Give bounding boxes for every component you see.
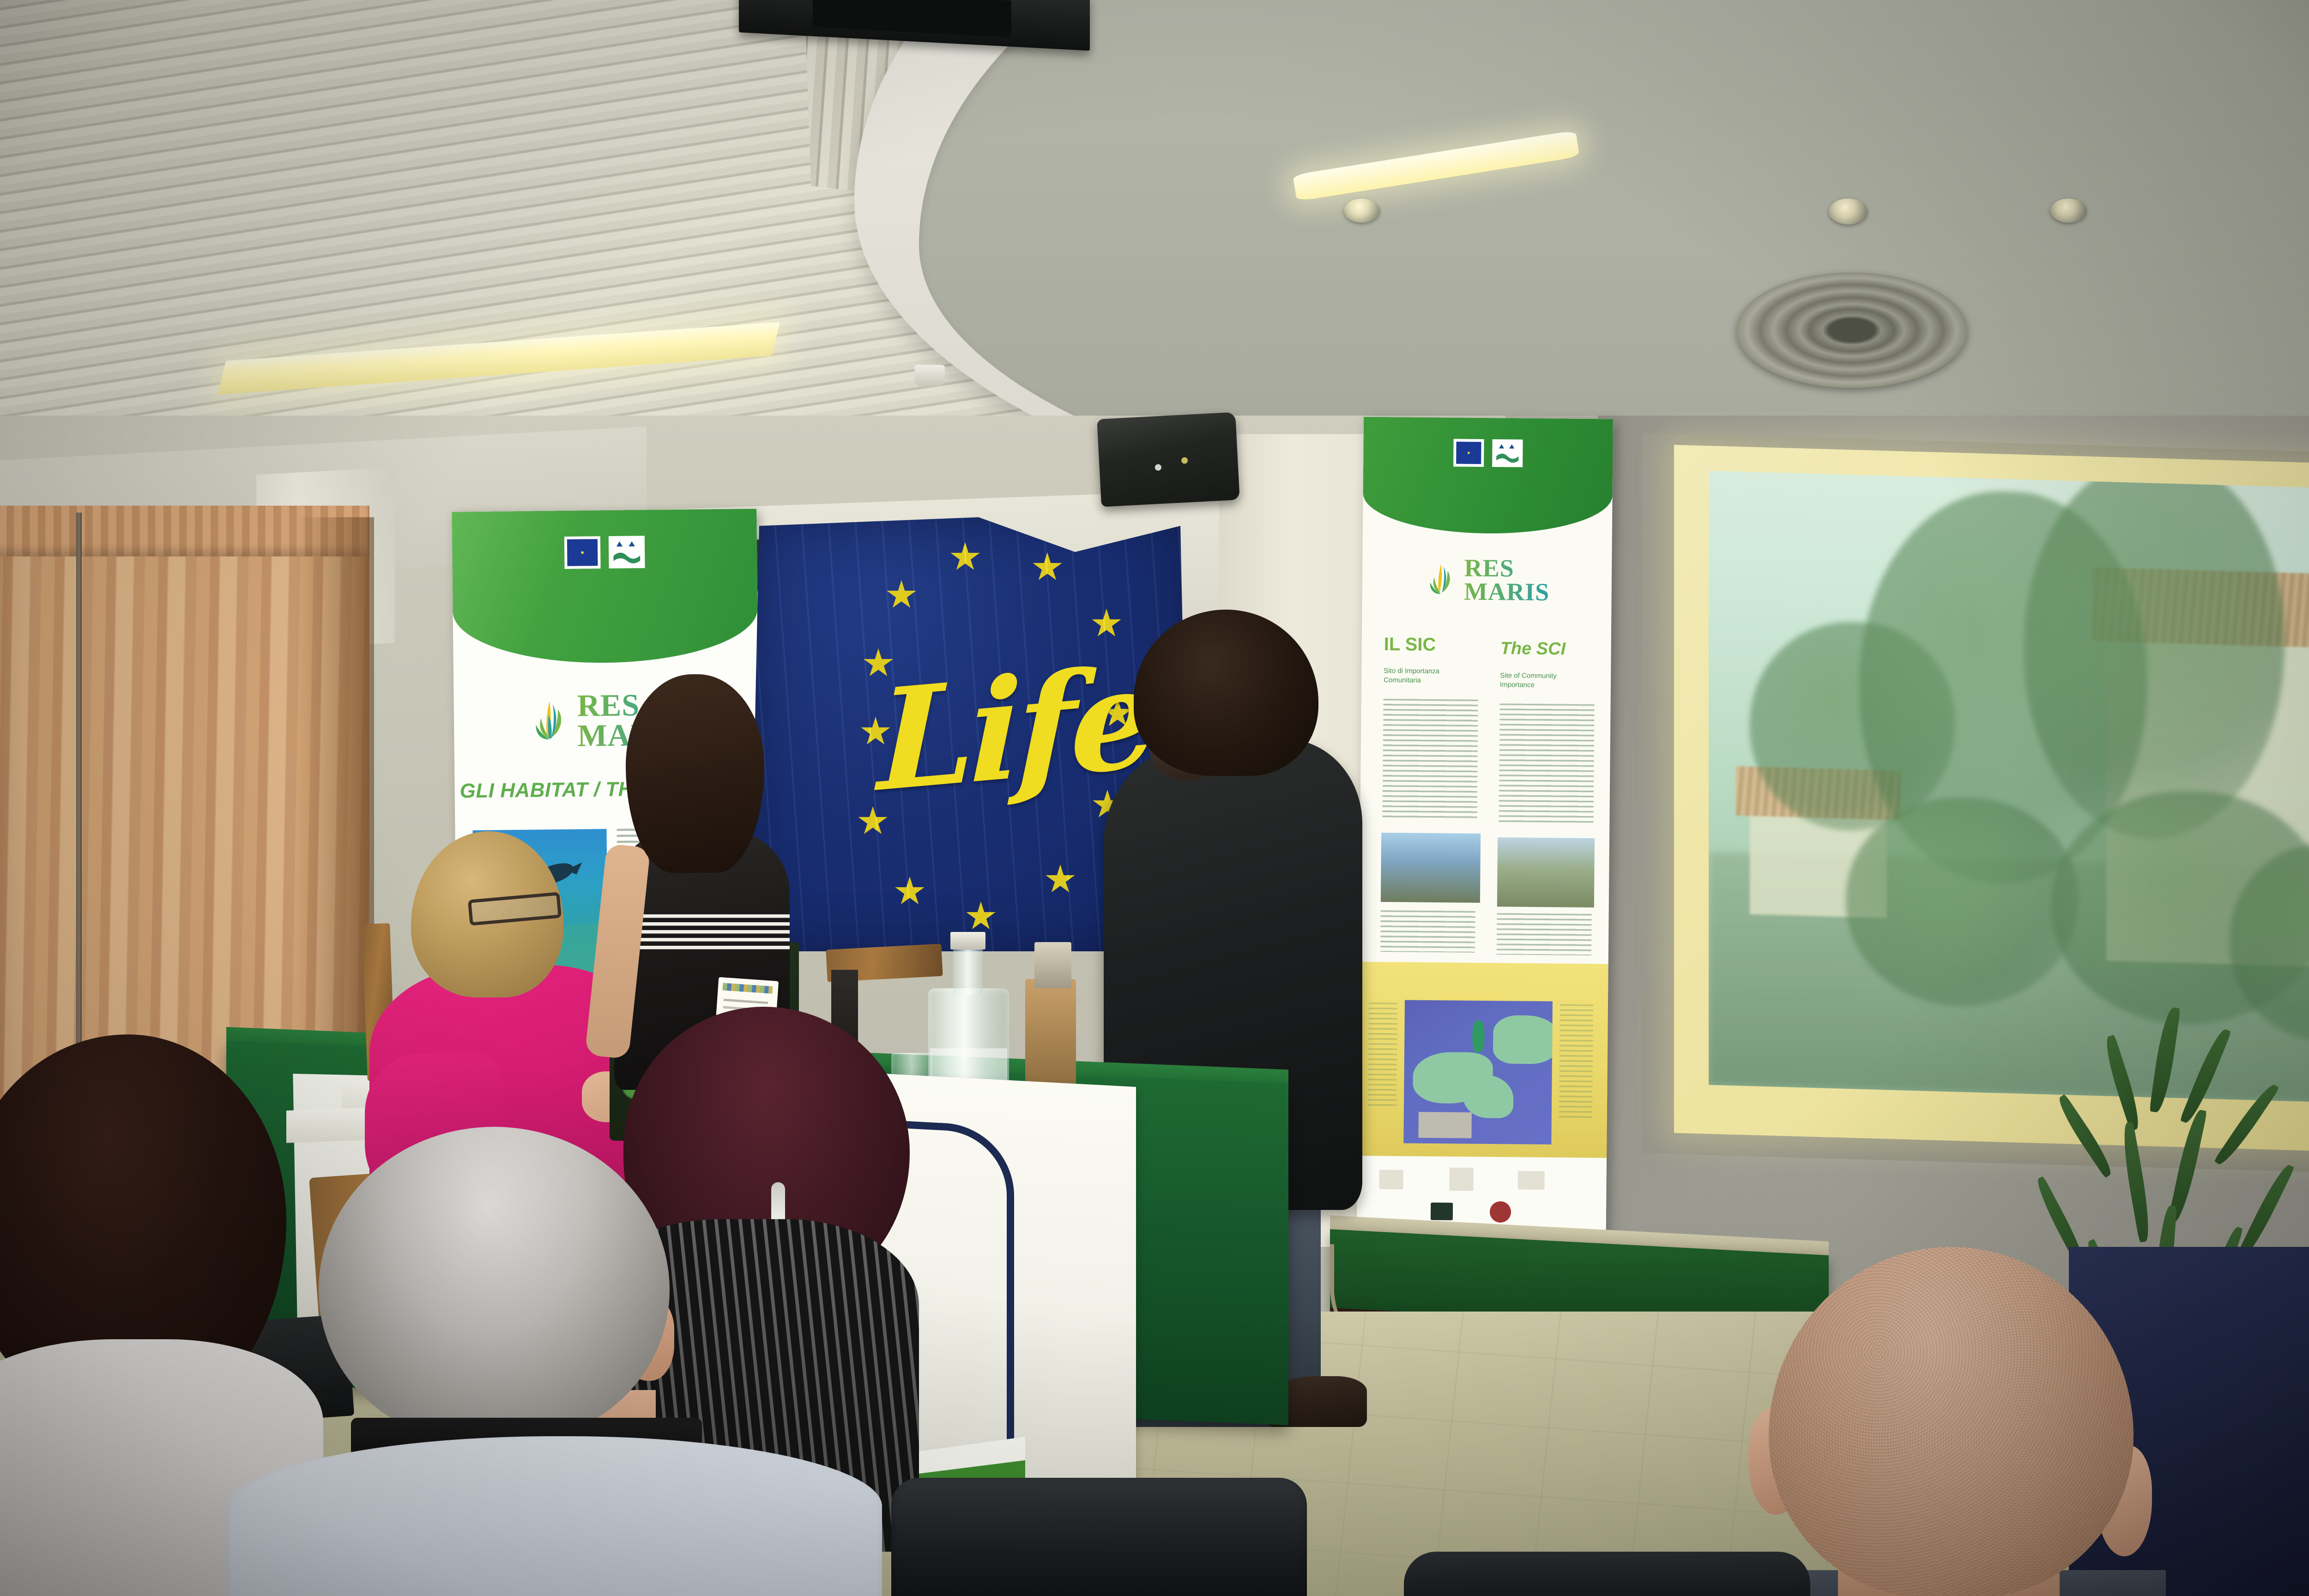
pa-speaker-icon xyxy=(1097,412,1240,507)
smoke-detector-icon xyxy=(914,365,945,386)
partner-logo-icon xyxy=(1379,1170,1403,1189)
partner-logo-icon xyxy=(1449,1167,1473,1191)
partner-logo-icon xyxy=(1490,1201,1511,1222)
banner-column-subtitle-en: Site of Community Importance xyxy=(1500,671,1592,690)
ceiling-vent-icon xyxy=(1736,272,1967,388)
water-bottle-cap xyxy=(950,932,985,949)
conference-room-photo: RES MARIS GLI HABITAT / THE HABITATS xyxy=(0,0,2309,1596)
banner-emblem-row xyxy=(1363,438,1613,468)
banner-photo-landscape xyxy=(1381,833,1481,903)
banner-map-legend-left xyxy=(1368,1003,1397,1109)
banner-column-title-en: The SCI xyxy=(1500,639,1566,659)
person-standing-woman-hair xyxy=(626,674,764,873)
banner-site-map xyxy=(1403,1000,1553,1145)
ceiling-downlight-icon xyxy=(1344,199,1380,223)
person-audience-man-grey-hair xyxy=(319,1127,670,1441)
wooden-object-on-table xyxy=(1025,979,1076,1094)
natura-2000-icon xyxy=(609,536,645,568)
person-audience-man-grey-shirt xyxy=(226,1436,882,1596)
eu-flag-icon xyxy=(1453,439,1484,467)
audience-chair xyxy=(891,1478,1307,1596)
banner-green-header xyxy=(1363,417,1613,535)
eu-flag-icon xyxy=(564,536,601,569)
banner-emblem-row xyxy=(452,535,757,570)
natura-2000-icon xyxy=(1492,439,1523,467)
banner-caption-it xyxy=(1380,910,1475,953)
partner-logo-icon xyxy=(1431,1203,1453,1220)
water-bottle-neck xyxy=(953,942,983,995)
partner-logo-icon xyxy=(1517,1171,1544,1190)
res-maris-logo: RES MARIS xyxy=(1362,556,1612,605)
ceiling-downlight-icon xyxy=(1829,199,1868,224)
banner-body-text-en xyxy=(1499,703,1594,824)
res-maris-leaf-icon xyxy=(1424,562,1458,598)
res-maris-wordmark: RES MARIS xyxy=(1464,556,1550,605)
banner-body-text-it xyxy=(1382,699,1478,820)
banner-map-legend-right xyxy=(1559,1004,1593,1120)
audience-chair xyxy=(1404,1552,1810,1596)
banner-caption-en xyxy=(1497,913,1592,955)
banner-green-header xyxy=(452,509,758,665)
banner-column-title-it: IL SIC xyxy=(1384,634,1436,655)
ceiling-downlight-icon xyxy=(2050,199,2086,223)
banner-il-sic: RES MARIS IL SIC The SCI Sito di Importa… xyxy=(1356,417,1613,1269)
small-object-on-table xyxy=(1034,942,1071,988)
banner-column-subtitle-it: Sito di Importanza Comunitaria xyxy=(1384,666,1476,685)
banner-photo-landscape xyxy=(1497,837,1595,907)
res-maris-leaf-icon xyxy=(528,698,571,744)
